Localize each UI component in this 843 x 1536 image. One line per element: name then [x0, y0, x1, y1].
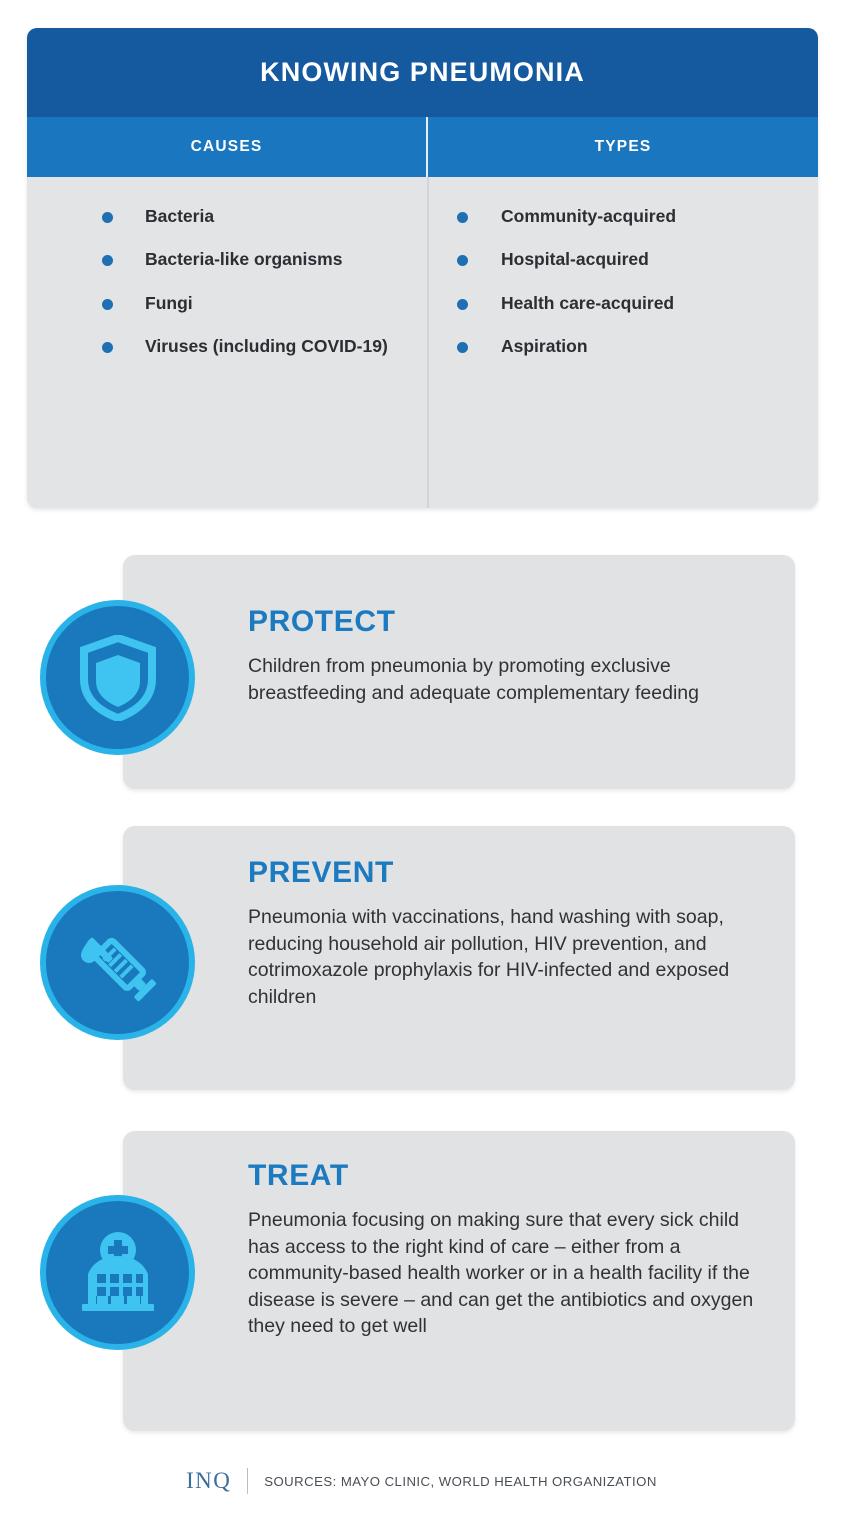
bullet-dot — [457, 342, 468, 353]
bullet-dot — [102, 342, 113, 353]
bullet-dot — [102, 255, 113, 266]
list-item-label: Fungi — [145, 293, 193, 313]
prevent-card-text: PREVENT Pneumonia with vaccinations, han… — [248, 856, 765, 1010]
column-header-causes: CAUSES — [27, 117, 426, 177]
list-item: Bacteria-like organisms — [27, 248, 427, 270]
hospital-icon — [40, 1195, 195, 1350]
inq-logo: INQ — [186, 1468, 231, 1494]
causes-list: Bacteria Bacteria-like organisms Fungi V… — [27, 205, 427, 358]
bullet-dot — [457, 255, 468, 266]
causes-column: Bacteria Bacteria-like organisms Fungi V… — [27, 177, 427, 508]
list-item: Hospital-acquired — [429, 248, 818, 270]
column-header-types: TYPES — [426, 117, 818, 177]
bullet-dot — [102, 212, 113, 223]
footer-sources-text: SOURCES: MAYO CLINIC, WORLD HEALTH ORGAN… — [264, 1474, 657, 1489]
treat-card-body: Pneumonia focusing on making sure that e… — [248, 1207, 765, 1340]
list-item: Aspiration — [429, 335, 818, 357]
treat-card-heading: TREAT — [248, 1159, 765, 1193]
footer-divider — [247, 1468, 248, 1494]
prevent-card: PREVENT Pneumonia with vaccinations, han… — [123, 826, 795, 1090]
treat-card-text: TREAT Pneumonia focusing on making sure … — [248, 1159, 765, 1340]
list-item-label: Aspiration — [501, 336, 588, 356]
list-item: Fungi — [27, 292, 427, 314]
list-item: Viruses (including COVID-19) — [27, 335, 427, 357]
syringe-icon — [40, 885, 195, 1040]
list-item-label: Bacteria-like organisms — [145, 249, 342, 269]
protect-card-heading: PROTECT — [248, 605, 765, 639]
list-item-label: Community-acquired — [501, 206, 676, 226]
knowing-pneumonia-table-card: KNOWING PNEUMONIA CAUSES TYPES Bacteria … — [27, 28, 818, 508]
protect-card: PROTECT Children from pneumonia by promo… — [123, 555, 795, 789]
list-item: Health care-acquired — [429, 292, 818, 314]
prevent-card-heading: PREVENT — [248, 856, 765, 890]
treat-card: TREAT Pneumonia focusing on making sure … — [123, 1131, 795, 1431]
column-header-label: TYPES — [595, 138, 652, 156]
bullet-dot — [457, 299, 468, 310]
types-column: Community-acquired Hospital-acquired Hea… — [427, 177, 818, 508]
table-title-bar: KNOWING PNEUMONIA — [27, 28, 818, 117]
list-item-label: Hospital-acquired — [501, 249, 649, 269]
table-body-row: Bacteria Bacteria-like organisms Fungi V… — [27, 177, 818, 508]
list-item-label: Bacteria — [145, 206, 214, 226]
list-item-label: Health care-acquired — [501, 293, 674, 313]
bullet-dot — [457, 212, 468, 223]
list-item-label: Viruses (including COVID-19) — [145, 336, 388, 356]
types-list: Community-acquired Hospital-acquired Hea… — [429, 205, 818, 358]
protect-card-text: PROTECT Children from pneumonia by promo… — [248, 605, 765, 706]
column-header-label: CAUSES — [191, 138, 263, 156]
page-title: KNOWING PNEUMONIA — [260, 57, 585, 88]
footer: INQ SOURCES: MAYO CLINIC, WORLD HEALTH O… — [0, 1468, 843, 1494]
prevent-card-body: Pneumonia with vaccinations, hand washin… — [248, 904, 765, 1010]
list-item: Bacteria — [27, 205, 427, 227]
protect-card-body: Children from pneumonia by promoting exc… — [248, 653, 765, 706]
table-subhead-row: CAUSES TYPES — [27, 117, 818, 177]
bullet-dot — [102, 299, 113, 310]
shield-icon — [40, 600, 195, 755]
list-item: Community-acquired — [429, 205, 818, 227]
